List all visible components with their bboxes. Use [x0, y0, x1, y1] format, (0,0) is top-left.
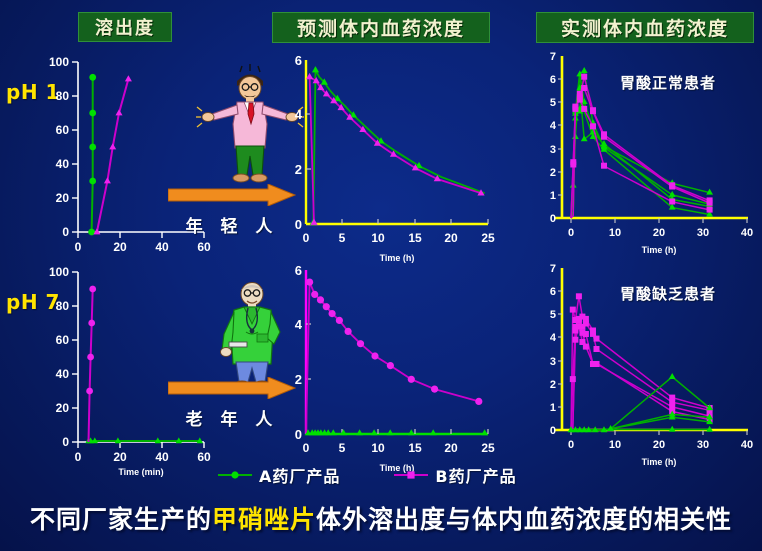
chart-predicted-young: 0 2 4 6 0 5 10 15 20 25 Time (h) — [278, 52, 508, 267]
svg-text:40: 40 — [741, 227, 753, 239]
legend-item-product-a: A药厂产品 — [218, 463, 340, 487]
young-caption: 年 轻 人 — [168, 212, 296, 237]
slide-root: 溶出度 预测体内血药浓度 实测体内血药浓度 pH 1 pH 7 胃酸正常患者 胃… — [0, 0, 762, 551]
chart-observed-normal-acid: 0 1 2 3 4 5 6 7 0 10 20 30 40 — [540, 50, 762, 265]
svg-text:4: 4 — [550, 332, 557, 344]
axis-label-time-min: Time (min) — [118, 467, 163, 477]
svg-text:10: 10 — [609, 227, 621, 239]
svg-text:60: 60 — [197, 450, 211, 464]
svg-text:0: 0 — [568, 439, 574, 451]
banner-predicted-concentration: 预测体内血药浓度 — [272, 12, 490, 43]
svg-text:40: 40 — [56, 157, 70, 171]
svg-text:0: 0 — [303, 231, 310, 245]
svg-text:1: 1 — [550, 190, 556, 202]
legend-marker-a-icon — [218, 469, 252, 481]
svg-text:25: 25 — [481, 231, 495, 245]
svg-text:20: 20 — [653, 439, 665, 451]
arrow-old: 老 年 人 — [168, 377, 296, 430]
svg-text:0: 0 — [75, 240, 82, 252]
svg-text:40: 40 — [155, 450, 169, 464]
svg-text:30: 30 — [697, 439, 709, 451]
svg-text:7: 7 — [550, 51, 556, 63]
svg-text:2: 2 — [550, 379, 556, 391]
svg-text:4: 4 — [295, 107, 303, 122]
svg-text:6: 6 — [295, 53, 302, 68]
svg-text:10: 10 — [371, 441, 385, 455]
svg-text:5: 5 — [339, 441, 346, 455]
svg-text:0: 0 — [550, 213, 556, 225]
svg-text:10: 10 — [371, 231, 385, 245]
svg-text:4: 4 — [295, 317, 303, 332]
svg-text:0: 0 — [303, 441, 310, 455]
svg-text:0: 0 — [62, 435, 69, 449]
svg-text:6: 6 — [295, 263, 302, 278]
svg-text:60: 60 — [197, 240, 211, 252]
legend-label-b: B药厂产品 — [435, 463, 516, 487]
svg-text:80: 80 — [56, 299, 70, 313]
arrow-right-icon — [168, 184, 296, 206]
svg-text:15: 15 — [408, 231, 422, 245]
svg-text:7: 7 — [550, 263, 556, 275]
svg-text:40: 40 — [155, 240, 169, 252]
svg-text:2: 2 — [550, 167, 556, 179]
svg-text:4: 4 — [550, 120, 557, 132]
caption-part2: 体外溶出度与体内血药浓度的相关性 — [316, 505, 732, 534]
svg-text:20: 20 — [56, 191, 70, 205]
chart-predicted-old: 0 2 4 6 0 5 10 15 20 25 Time (h) — [278, 262, 508, 477]
svg-text:6: 6 — [550, 286, 556, 298]
arrow-young: 年 轻 人 — [168, 184, 296, 237]
svg-text:20: 20 — [113, 450, 127, 464]
svg-text:2: 2 — [295, 372, 302, 387]
svg-text:20: 20 — [653, 227, 665, 239]
svg-text:1: 1 — [550, 402, 556, 414]
svg-text:0: 0 — [568, 227, 574, 239]
svg-text:2: 2 — [295, 162, 302, 177]
svg-text:60: 60 — [56, 123, 70, 137]
old-caption: 老 年 人 — [168, 405, 296, 430]
svg-text:25: 25 — [481, 441, 495, 455]
chart-observed-low-acid: 0 1 2 3 4 5 6 7 0 10 20 30 40 — [540, 262, 762, 477]
svg-text:20: 20 — [113, 240, 127, 252]
svg-text:5: 5 — [339, 231, 346, 245]
svg-text:20: 20 — [444, 231, 458, 245]
svg-text:0: 0 — [295, 217, 302, 232]
banner-observed-concentration: 实测体内血药浓度 — [536, 12, 754, 43]
svg-text:100: 100 — [49, 55, 69, 69]
svg-text:80: 80 — [56, 89, 70, 103]
svg-text:60: 60 — [56, 333, 70, 347]
svg-text:3: 3 — [550, 144, 556, 156]
caption-highlight: 甲硝唑片 — [212, 505, 316, 534]
legend-label-a: A药厂产品 — [259, 463, 340, 487]
svg-text:20: 20 — [444, 441, 458, 455]
svg-text:30: 30 — [697, 227, 709, 239]
axis-label-time-h: Time (h) — [642, 457, 677, 467]
svg-text:0: 0 — [62, 225, 69, 239]
svg-text:6: 6 — [550, 74, 556, 86]
svg-text:40: 40 — [56, 367, 70, 381]
svg-text:5: 5 — [550, 309, 556, 321]
svg-text:3: 3 — [550, 356, 556, 368]
svg-text:100: 100 — [49, 265, 69, 279]
svg-text:15: 15 — [408, 441, 422, 455]
svg-text:40: 40 — [741, 439, 753, 451]
svg-text:20: 20 — [56, 401, 70, 415]
slide-caption: 不同厂家生产的甲硝唑片体外溶出度与体内血药浓度的相关性 — [0, 500, 762, 536]
legend: A药厂产品 B药厂产品 — [218, 462, 578, 488]
svg-text:5: 5 — [550, 97, 556, 109]
svg-text:0: 0 — [75, 450, 82, 464]
caption-part1: 不同厂家生产的 — [30, 505, 212, 534]
axis-label-time-h: Time (h) — [642, 245, 677, 255]
svg-text:0: 0 — [295, 427, 302, 442]
arrow-right-icon — [168, 377, 296, 399]
banner-dissolution: 溶出度 — [78, 12, 172, 42]
legend-marker-b-icon — [394, 469, 428, 481]
chart-dissolution-ph7: 0 20 40 60 80 100 0 20 40 60 Time (min) — [22, 262, 212, 477]
svg-text:10: 10 — [609, 439, 621, 451]
svg-text:0: 0 — [550, 425, 556, 437]
legend-item-product-b: B药厂产品 — [394, 463, 516, 487]
